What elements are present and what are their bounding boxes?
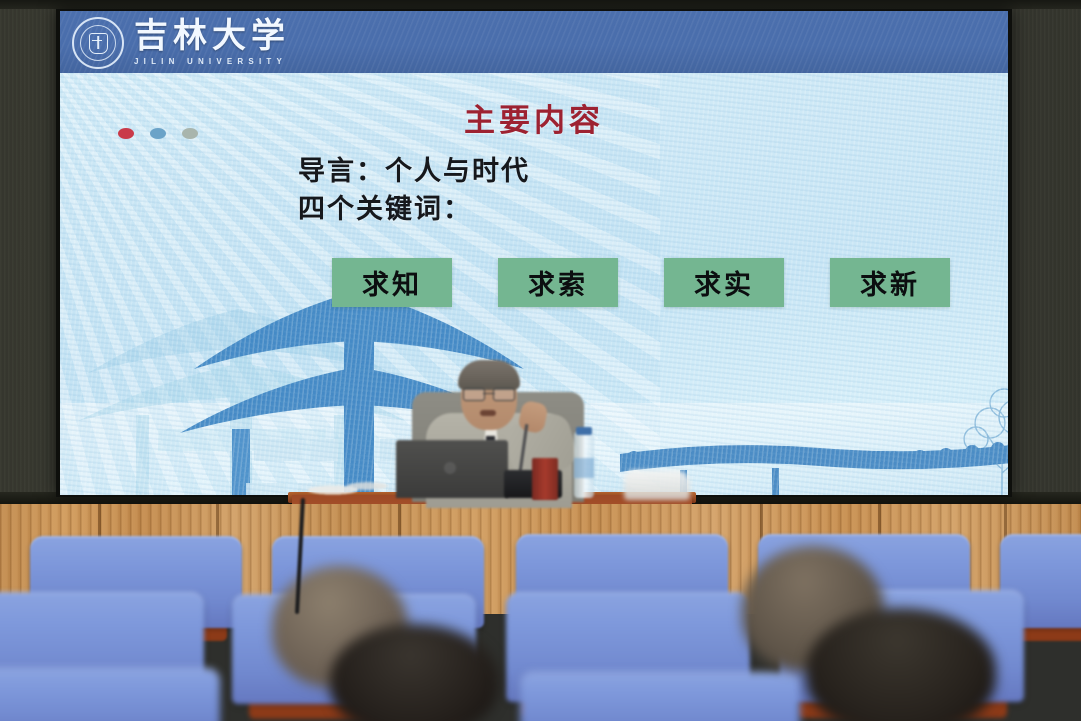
- chinese-pavilion-silhouette: [78, 303, 408, 495]
- slide-line-2: 四个关键词：: [298, 191, 530, 229]
- keyword-box-1: 求知: [332, 258, 452, 307]
- keyword-box-3: 求实: [664, 258, 784, 307]
- slide-line-1: 导言：个人与时代: [298, 153, 530, 191]
- slide-title: 主要内容: [60, 95, 1008, 140]
- jilin-university-seal-icon: [72, 17, 124, 69]
- laptop: [396, 440, 508, 498]
- university-logo: 吉林大学 JILIN UNIVERSITY: [72, 17, 290, 69]
- eyeglasses-icon: [463, 388, 515, 399]
- keyword-box-2: 求索: [498, 258, 618, 307]
- desk-cables: [304, 478, 400, 498]
- presenter-mouth: [480, 410, 496, 416]
- water-bottle-label: [574, 458, 594, 478]
- slide-header-band: 吉林大学 JILIN UNIVERSITY: [60, 11, 1008, 73]
- water-bottle-cap: [576, 427, 592, 435]
- university-name-en: JILIN UNIVERSITY: [134, 57, 290, 66]
- tree-sketch: [940, 373, 1008, 495]
- keyword-row: 求知 求索 求实 求新: [332, 258, 950, 307]
- cup: [532, 458, 558, 500]
- keyword-box-4: 求新: [830, 258, 950, 307]
- auditorium-seat[interactable]: [520, 672, 800, 721]
- lecture-hall-photo: 吉林大学 JILIN UNIVERSITY: [0, 0, 1081, 721]
- university-name-cn: 吉林大学: [134, 20, 290, 54]
- presenter-hair: [458, 360, 520, 390]
- auditorium-seat[interactable]: [0, 668, 220, 721]
- wall-top-trim: [0, 0, 1081, 9]
- slide-body-lines: 导言：个人与时代 四个关键词：: [298, 153, 530, 230]
- plastic-bag: [624, 470, 690, 500]
